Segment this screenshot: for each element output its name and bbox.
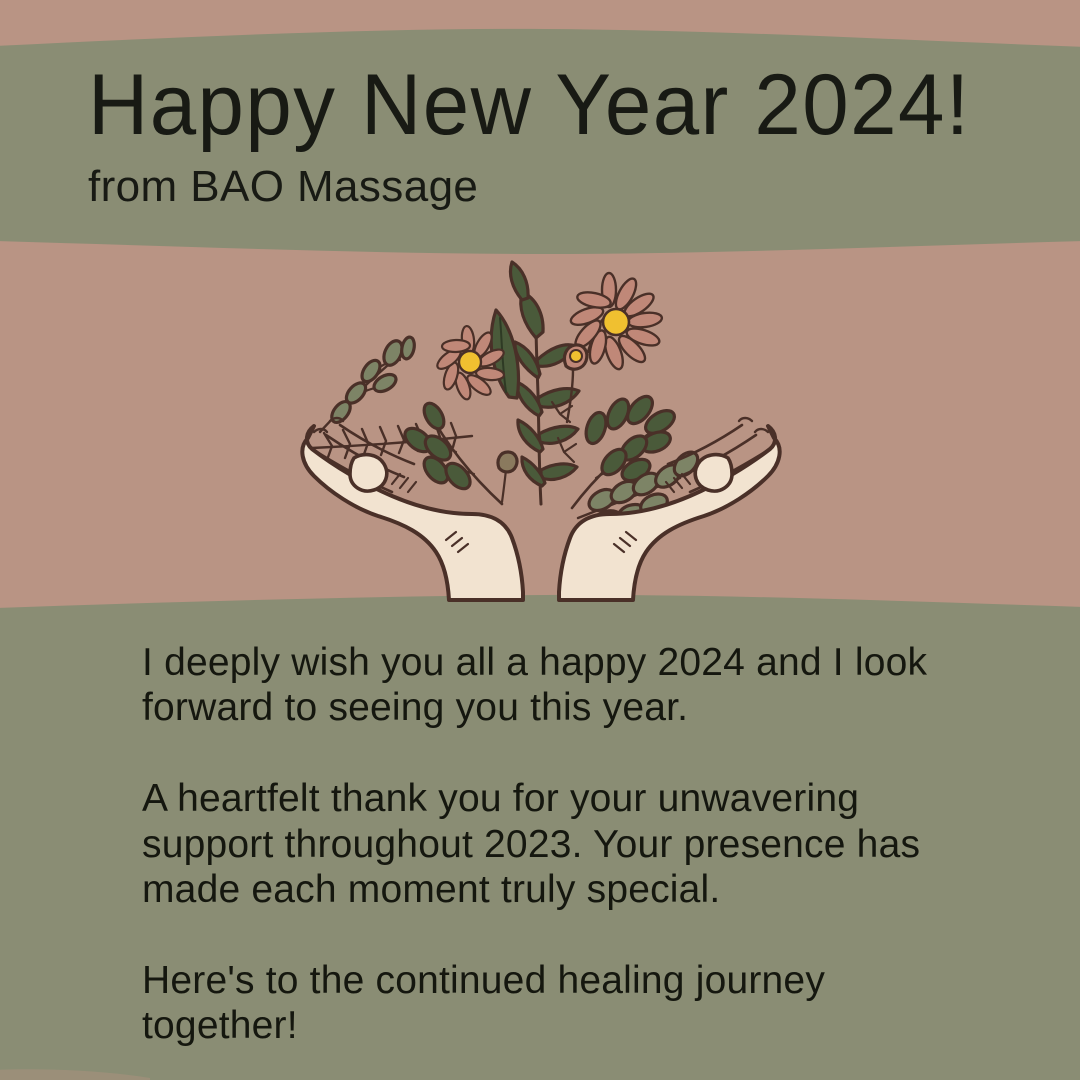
page-title: Happy New Year 2024! [88,62,980,148]
page-subtitle: from BAO Massage [88,164,1008,210]
message-block: I deeply wish you all a happy 2024 and I… [142,640,972,1049]
central-leafy-stem [510,262,579,504]
greeting-card: Happy New Year 2024! from BAO Massage [0,0,1080,1080]
flower-bud [564,345,586,422]
header-block: Happy New Year 2024! from BAO Massage [88,62,1008,210]
hands-holding-bouquet-illustration [296,252,786,604]
message-paragraph-3: Here's to the continued healing journey … [142,958,972,1048]
message-paragraph-1: I deeply wish you all a happy 2024 and I… [142,640,972,730]
message-paragraph-2: A heartfelt thank you for your unwaverin… [142,776,972,912]
small-bud-lower [498,452,517,502]
leaf-sprig-left-mid [401,400,502,504]
